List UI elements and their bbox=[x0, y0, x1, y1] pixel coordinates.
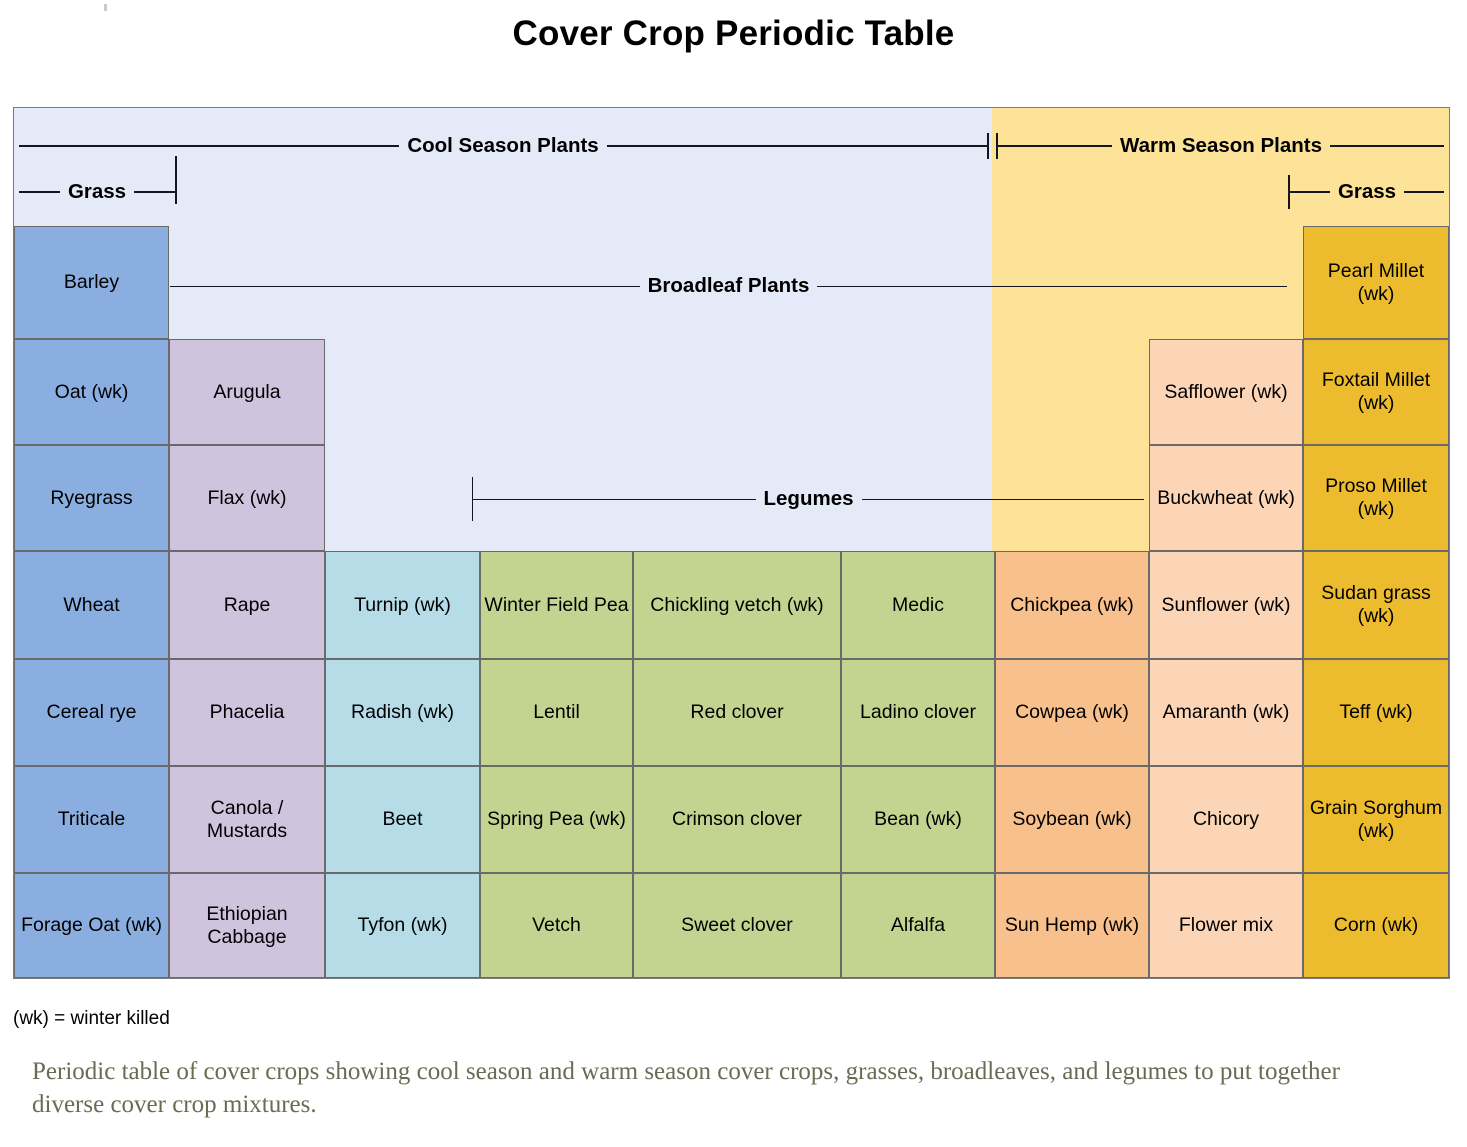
crop-cell[interactable]: Canola / Mustards bbox=[169, 766, 325, 873]
crop-cell-label: Chicory bbox=[1193, 808, 1259, 831]
crop-cell[interactable]: Rape bbox=[169, 551, 325, 659]
periodic-table-frame: Cool Season Plants Warm Season Plants Gr… bbox=[13, 107, 1450, 979]
crop-cell[interactable]: Beet bbox=[325, 766, 480, 873]
crop-cell[interactable]: Alfalfa bbox=[841, 873, 995, 978]
crop-cell[interactable]: Winter Field Pea bbox=[480, 551, 633, 659]
crop-cell[interactable]: Oat (wk) bbox=[14, 339, 169, 445]
crop-cell-label: Safflower (wk) bbox=[1164, 381, 1287, 404]
crop-cell[interactable]: Red clover bbox=[633, 659, 841, 766]
crop-cell[interactable]: Safflower (wk) bbox=[1149, 339, 1303, 445]
crop-cell[interactable]: Cowpea (wk) bbox=[995, 659, 1149, 766]
crop-cell-label: Soybean (wk) bbox=[1012, 808, 1131, 831]
crop-cell[interactable]: Barley bbox=[14, 226, 169, 339]
crop-cell-label: Barley bbox=[64, 271, 119, 294]
crop-cell[interactable]: Proso Millet (wk) bbox=[1303, 445, 1449, 551]
crop-cell-label: Radish (wk) bbox=[351, 701, 454, 724]
crop-cell-label: Amaranth (wk) bbox=[1163, 701, 1290, 724]
crop-cell-label: Turnip (wk) bbox=[354, 594, 451, 617]
crop-cell-label: Foxtail Millet (wk) bbox=[1307, 369, 1445, 415]
crop-cell-label: Tyfon (wk) bbox=[358, 914, 448, 937]
crop-cell-label: Vetch bbox=[532, 914, 581, 937]
crop-cell[interactable]: Cereal rye bbox=[14, 659, 169, 766]
crop-grid: BarleyOat (wk)RyegrassWheatCereal ryeTri… bbox=[14, 108, 1449, 978]
crop-cell-label: Lentil bbox=[533, 701, 580, 724]
crop-cell[interactable]: Flower mix bbox=[1149, 873, 1303, 978]
crop-cell-label: Medic bbox=[892, 594, 944, 617]
crop-cell-label: Crimson clover bbox=[672, 808, 802, 831]
crop-cell-label: Wheat bbox=[63, 594, 119, 617]
crop-cell[interactable]: Arugula bbox=[169, 339, 325, 445]
crop-cell-label: Red clover bbox=[690, 701, 783, 724]
crop-cell[interactable]: Lentil bbox=[480, 659, 633, 766]
crop-cell-label: Canola / Mustards bbox=[173, 797, 321, 843]
crop-cell-label: Sun Hemp (wk) bbox=[1005, 914, 1139, 937]
footnote-winter-killed: (wk) = winter killed bbox=[13, 1008, 170, 1030]
crop-cell[interactable]: Sweet clover bbox=[633, 873, 841, 978]
crop-cell-label: Chickling vetch (wk) bbox=[650, 594, 823, 617]
page-title: Cover Crop Periodic Table bbox=[0, 14, 1467, 54]
crop-cell[interactable]: Sudan grass (wk) bbox=[1303, 551, 1449, 659]
crop-cell[interactable]: Wheat bbox=[14, 551, 169, 659]
crop-cell[interactable]: Pearl Millet (wk) bbox=[1303, 226, 1449, 339]
crop-cell[interactable]: Sunflower (wk) bbox=[1149, 551, 1303, 659]
crop-cell-label: Pearl Millet (wk) bbox=[1307, 260, 1445, 306]
crop-cell-label: Winter Field Pea bbox=[484, 594, 628, 617]
crop-cell-label: Arugula bbox=[213, 381, 280, 404]
crop-cell[interactable]: Teff (wk) bbox=[1303, 659, 1449, 766]
crop-cell-label: Proso Millet (wk) bbox=[1307, 475, 1445, 521]
crop-cell[interactable]: Foxtail Millet (wk) bbox=[1303, 339, 1449, 445]
crop-cell-label: Phacelia bbox=[210, 701, 285, 724]
crop-cell-label: Chickpea (wk) bbox=[1010, 594, 1134, 617]
crop-cell-label: Rape bbox=[224, 594, 271, 617]
crop-cell-label: Alfalfa bbox=[891, 914, 945, 937]
crop-cell-label: Beet bbox=[382, 808, 422, 831]
crop-cell-label: Bean (wk) bbox=[874, 808, 962, 831]
crop-cell[interactable]: Chicory bbox=[1149, 766, 1303, 873]
crop-cell[interactable]: Bean (wk) bbox=[841, 766, 995, 873]
crop-cell[interactable]: Grain Sorghum (wk) bbox=[1303, 766, 1449, 873]
crop-cell-label: Triticale bbox=[58, 808, 126, 831]
crop-cell[interactable]: Buckwheat (wk) bbox=[1149, 445, 1303, 551]
crop-cell[interactable]: Vetch bbox=[480, 873, 633, 978]
crop-cell-label: Cowpea (wk) bbox=[1015, 701, 1129, 724]
crop-cell-label: Ryegrass bbox=[50, 487, 132, 510]
crop-cell[interactable]: Chickling vetch (wk) bbox=[633, 551, 841, 659]
crop-cell-label: Flax (wk) bbox=[207, 487, 286, 510]
crop-cell[interactable]: Soybean (wk) bbox=[995, 766, 1149, 873]
crop-cell-label: Sweet clover bbox=[681, 914, 793, 937]
crop-cell[interactable]: Medic bbox=[841, 551, 995, 659]
crop-cell-label: Grain Sorghum (wk) bbox=[1307, 797, 1445, 843]
crop-cell[interactable]: Ryegrass bbox=[14, 445, 169, 551]
crop-cell[interactable]: Phacelia bbox=[169, 659, 325, 766]
crop-cell-label: Spring Pea (wk) bbox=[487, 808, 626, 831]
crop-cell[interactable]: Triticale bbox=[14, 766, 169, 873]
crop-cell-label: Flower mix bbox=[1179, 914, 1273, 937]
stray-artifact bbox=[104, 4, 107, 11]
crop-cell-label: Forage Oat (wk) bbox=[21, 914, 162, 937]
crop-cell[interactable]: Forage Oat (wk) bbox=[14, 873, 169, 978]
crop-cell-label: Cereal rye bbox=[47, 701, 137, 724]
crop-cell-label: Oat (wk) bbox=[55, 381, 129, 404]
crop-cell[interactable]: Corn (wk) bbox=[1303, 873, 1449, 978]
figure-caption: Periodic table of cover crops showing co… bbox=[32, 1055, 1392, 1121]
crop-cell-label: Ethiopian Cabbage bbox=[173, 903, 321, 949]
crop-cell[interactable]: Spring Pea (wk) bbox=[480, 766, 633, 873]
crop-cell[interactable]: Ethiopian Cabbage bbox=[169, 873, 325, 978]
crop-cell[interactable]: Crimson clover bbox=[633, 766, 841, 873]
crop-cell-label: Ladino clover bbox=[860, 701, 976, 724]
crop-cell-label: Sudan grass (wk) bbox=[1307, 582, 1445, 628]
crop-cell-label: Buckwheat (wk) bbox=[1157, 487, 1295, 510]
crop-cell-label: Corn (wk) bbox=[1334, 914, 1419, 937]
crop-cell[interactable]: Radish (wk) bbox=[325, 659, 480, 766]
crop-cell[interactable]: Ladino clover bbox=[841, 659, 995, 766]
crop-cell[interactable]: Tyfon (wk) bbox=[325, 873, 480, 978]
crop-cell[interactable]: Chickpea (wk) bbox=[995, 551, 1149, 659]
crop-cell[interactable]: Sun Hemp (wk) bbox=[995, 873, 1149, 978]
crop-cell-label: Teff (wk) bbox=[1339, 701, 1412, 724]
crop-cell[interactable]: Turnip (wk) bbox=[325, 551, 480, 659]
crop-cell-label: Sunflower (wk) bbox=[1162, 594, 1291, 617]
crop-cell[interactable]: Flax (wk) bbox=[169, 445, 325, 551]
crop-cell[interactable]: Amaranth (wk) bbox=[1149, 659, 1303, 766]
